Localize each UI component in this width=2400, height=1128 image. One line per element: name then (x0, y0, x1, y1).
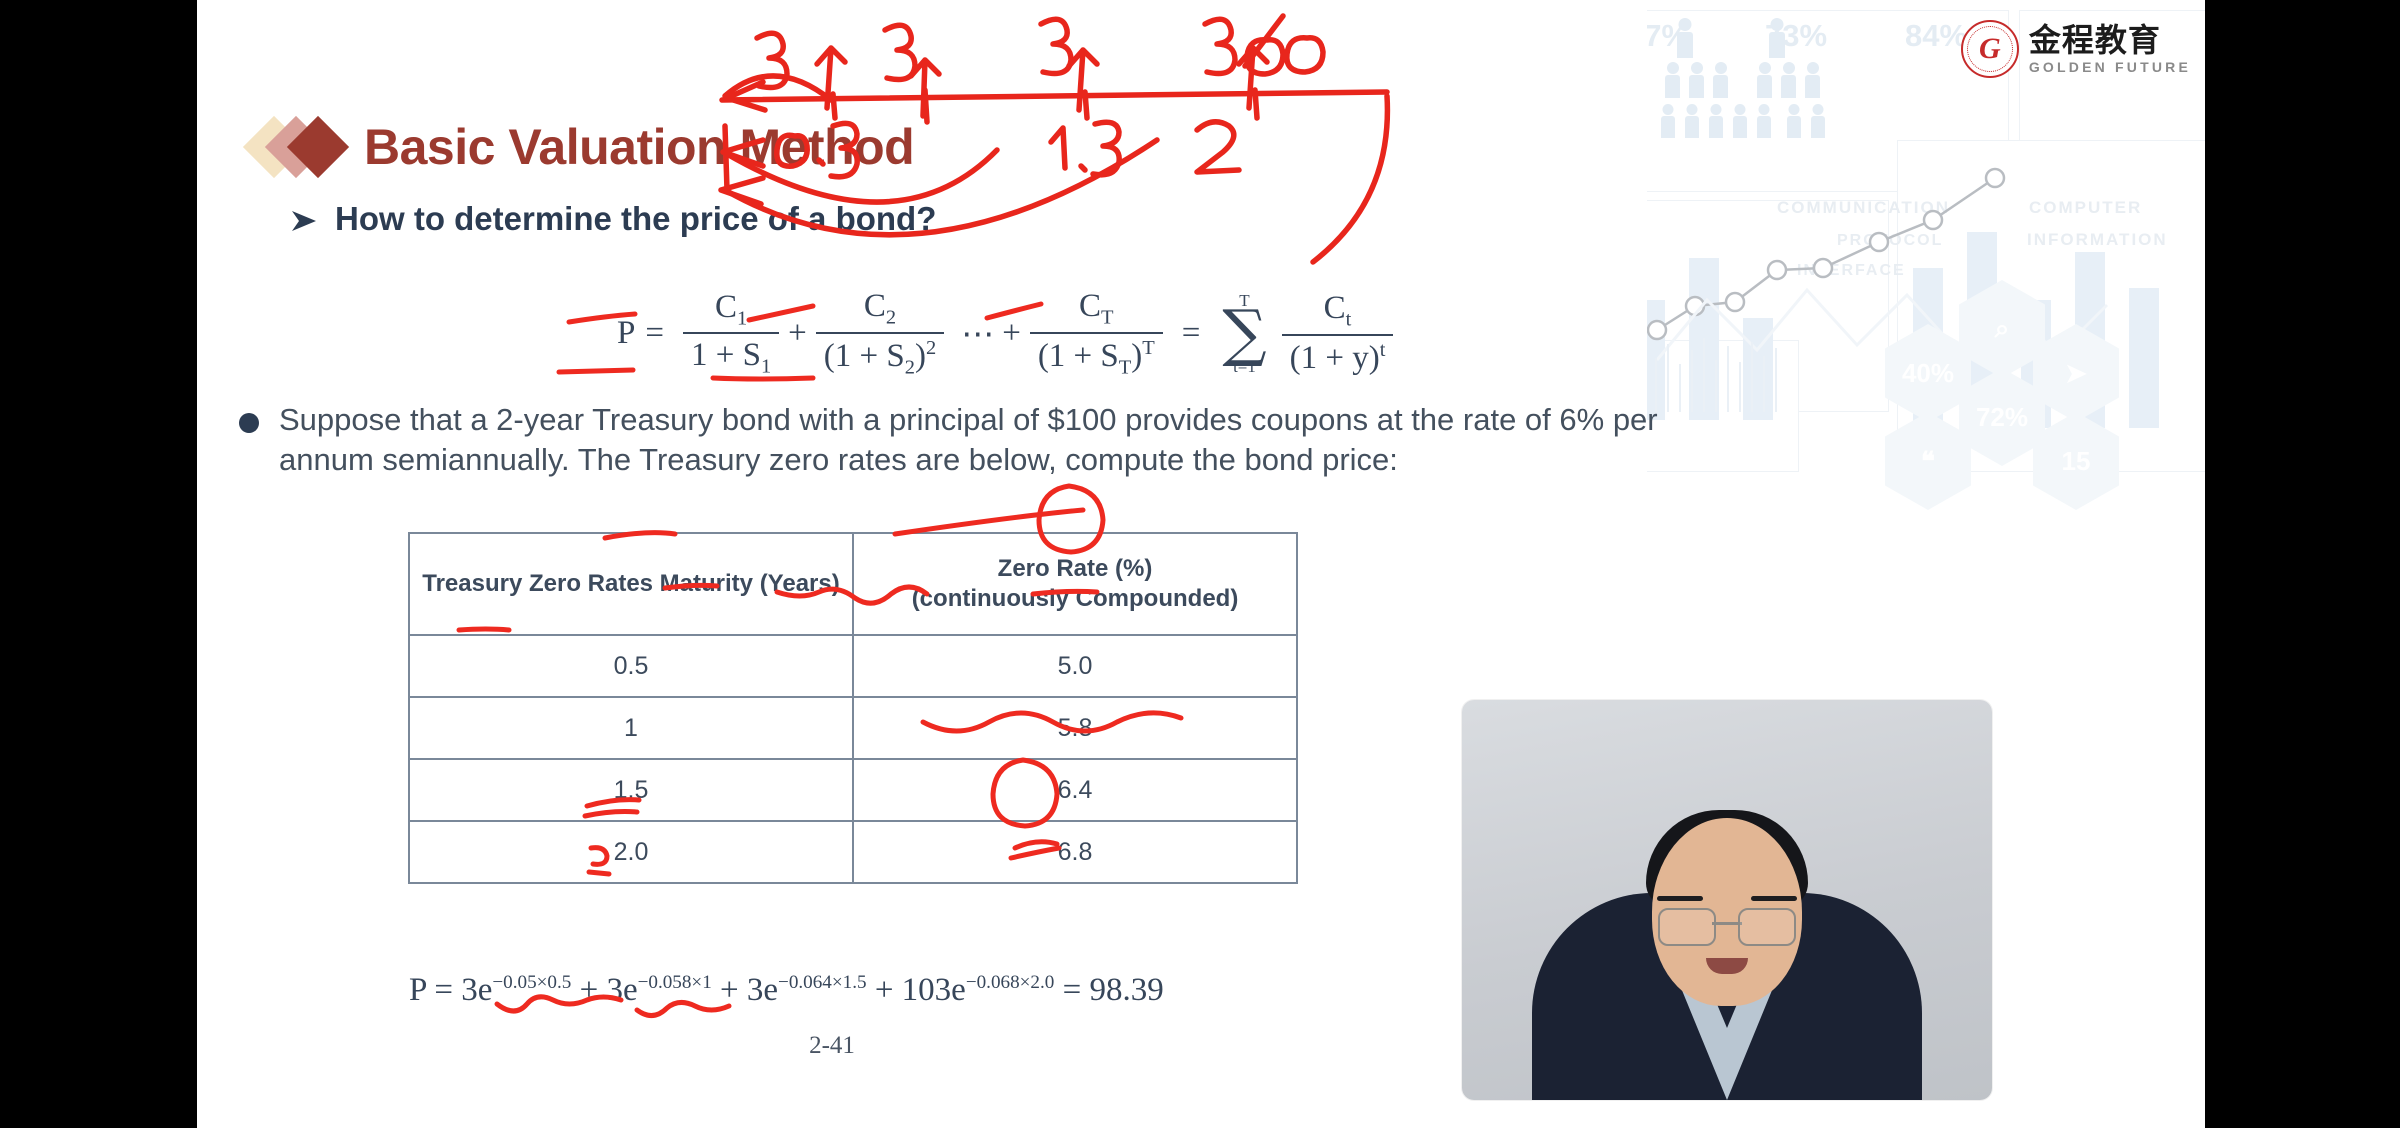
cell-maturity: 1.5 (409, 759, 853, 821)
summation-operator: T ∑ t=1 (1222, 292, 1266, 374)
screen-recording-frame: 47% 73% 84% ES COMMUNICATION PROTOCOL IN… (0, 0, 2400, 1128)
logo-chinese-name: 金程教育 (2029, 24, 2191, 56)
calc-exponent-1: −0.05×0.5 (492, 972, 571, 993)
letterbox-bar-left (0, 0, 197, 1128)
cell-zero-rate: 6.4 (853, 759, 1297, 821)
question-bullet-row: How to determine the price of a bond? (287, 200, 936, 238)
chevron-right-arrow-icon (287, 204, 321, 238)
formula-plus-1: + (788, 315, 807, 352)
instructor-video-feed[interactable] (1462, 700, 1992, 1100)
cell-maturity: 0.5 (409, 635, 853, 697)
formula-plus-2: + (1002, 315, 1021, 352)
background-infographic: 47% 73% 84% ES COMMUNICATION PROTOCOL IN… (1647, 0, 2205, 690)
seal-letter: G (1979, 34, 2001, 64)
formula-term-t: CT (1 + ST)T (1030, 288, 1163, 379)
letterbox-bar-right (2205, 0, 2400, 1128)
treasury-zero-rates-table: Treasury Zero Rates Maturity (Years) Zer… (408, 532, 1298, 884)
calc-term-2: + 3e (571, 972, 637, 1008)
bond-price-formula: P = C1 1 + S1 + C2 (1 + S2)2 ⋯ + CT (1 +… (617, 288, 1402, 379)
calc-result-equals: = (1054, 972, 1089, 1008)
page-number: 2-41 (197, 1032, 1467, 1060)
calc-prefix: P = 3e (409, 972, 492, 1008)
cell-zero-rate: 5.8 (853, 697, 1297, 759)
computed-price-equation: P = 3e−0.05×0.5 + 3e−0.058×1 + 3e−0.064×… (409, 972, 1164, 1009)
formula-sum-term: Ct (1 + y)t (1282, 290, 1394, 377)
calc-result: 98.39 (1089, 972, 1163, 1008)
formula-term-2: C2 (1 + S2)2 (816, 288, 944, 379)
cell-maturity: 1 (409, 697, 853, 759)
sigma-glyph: ∑ (1222, 309, 1266, 357)
table-header-row: Treasury Zero Rates Maturity (Years) Zer… (409, 533, 1297, 635)
formula-equals-2: = (1182, 315, 1201, 352)
zero-rate-line-2: (continuously Compounded) (860, 584, 1290, 614)
table-row: 15.8 (409, 697, 1297, 759)
three-diamonds-icon (252, 116, 346, 178)
formula-term-1: C1 1 + S1 (683, 289, 779, 379)
page-title: Basic Valuation Method (364, 118, 914, 176)
column-header-maturity: Treasury Zero Rates Maturity (Years) (409, 533, 853, 635)
cell-maturity: 2.0 (409, 821, 853, 883)
calc-exponent-4: −0.068×2.0 (966, 972, 1055, 993)
column-header-zero-rate: Zero Rate (%) (continuously Compounded) (853, 533, 1297, 635)
example-paragraph: Suppose that a 2-year Treasury bond with… (279, 400, 1659, 479)
sigma-lower-limit: t=1 (1233, 358, 1256, 375)
formula-equals-1: = (645, 315, 664, 352)
cell-zero-rate: 5.0 (853, 635, 1297, 697)
table-row: 2.06.8 (409, 821, 1297, 883)
cell-zero-rate: 6.8 (853, 821, 1297, 883)
table-row: 0.55.0 (409, 635, 1297, 697)
calc-exponent-3: −0.064×1.5 (778, 972, 867, 993)
calc-term-4: + 103e (867, 972, 966, 1008)
formula-ellipsis: ⋯ (961, 314, 994, 354)
table-row: 1.56.4 (409, 759, 1297, 821)
circular-seal-icon: G (1961, 20, 2019, 78)
calc-term-3: + 3e (712, 972, 778, 1008)
filled-circle-bullet-icon (239, 413, 259, 433)
formula-lhs: P (617, 315, 635, 352)
zero-rate-line-1: Zero Rate (%) (860, 554, 1290, 584)
slide-title-row: Basic Valuation Method (252, 116, 914, 178)
example-bullet-row: Suppose that a 2-year Treasury bond with… (239, 400, 1659, 479)
calc-exponent-2: −0.058×1 (638, 972, 712, 993)
eyeglasses-icon (1658, 908, 1796, 942)
brand-logo: G 金程教育 GOLDEN FUTURE (1961, 20, 2191, 78)
question-text: How to determine the price of a bond? (335, 200, 936, 238)
logo-english-name: GOLDEN FUTURE (2029, 60, 2191, 74)
